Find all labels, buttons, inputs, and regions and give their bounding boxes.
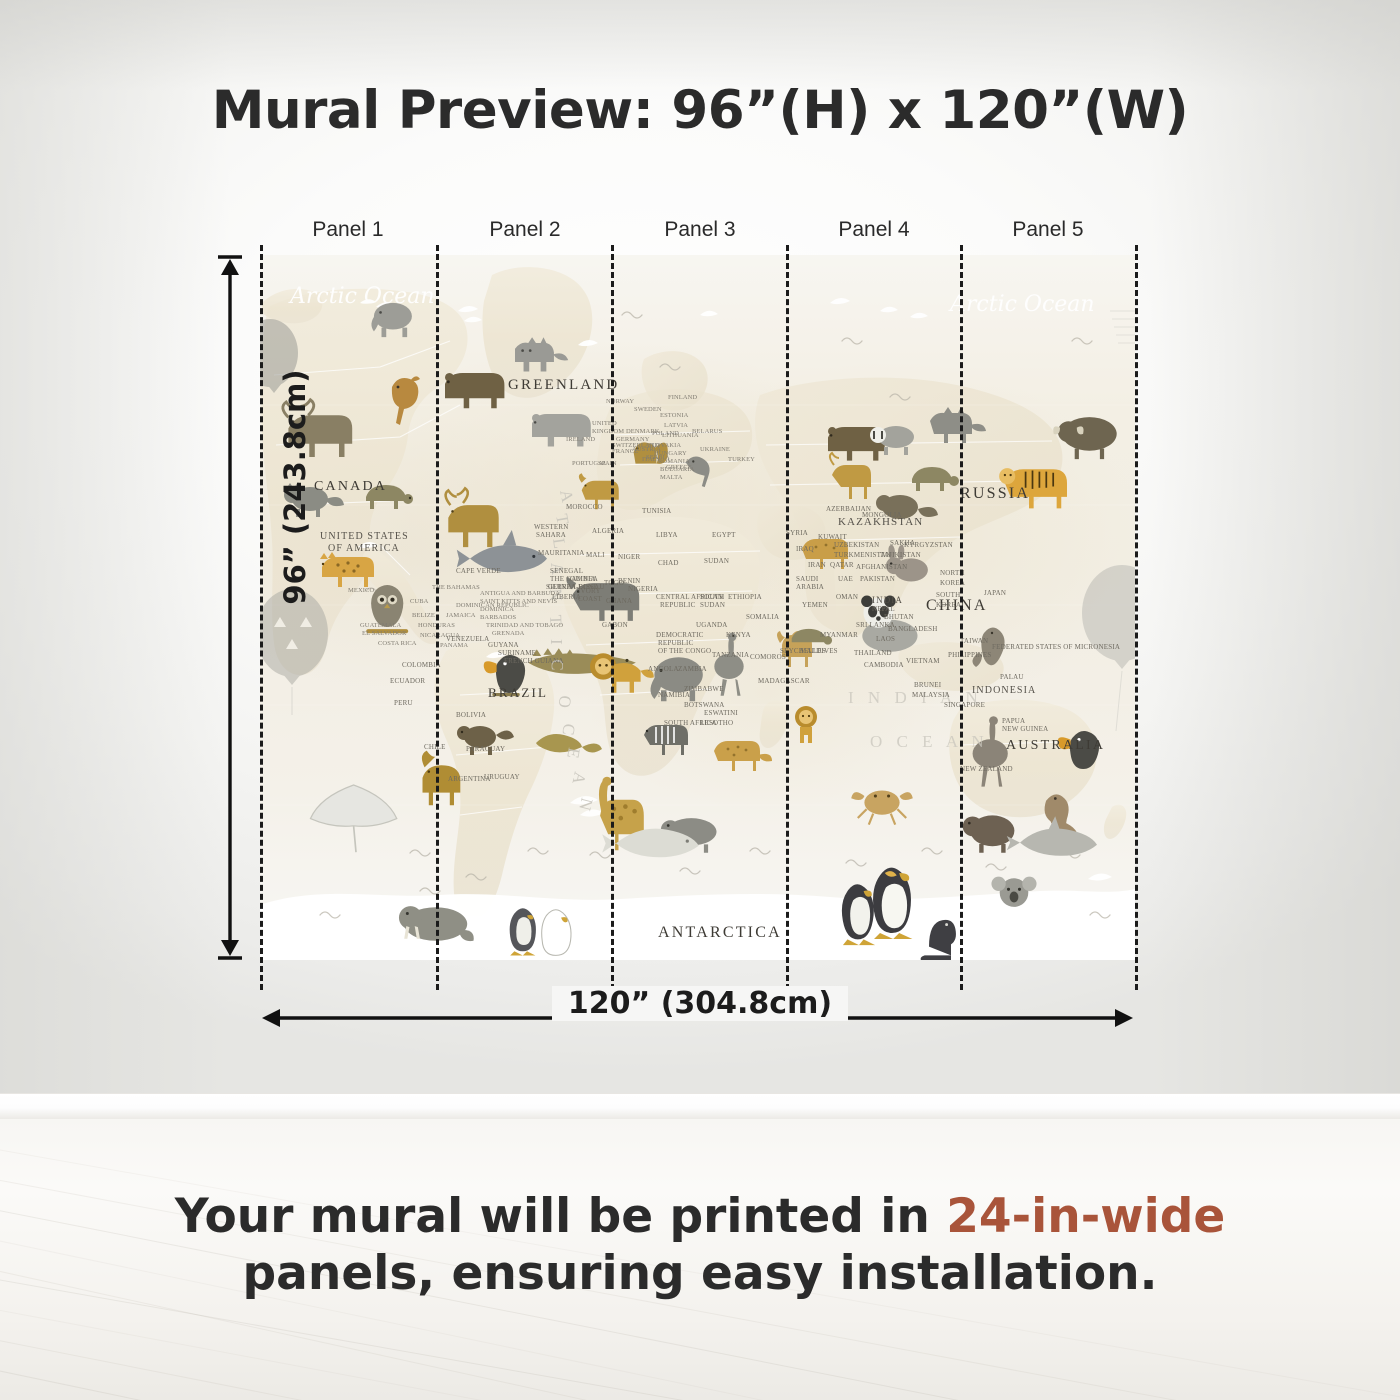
svg-text:BARBADOS: BARBADOS [480,614,516,621]
svg-text:E: E [562,746,583,764]
svg-text:EL SALVADOR: EL SALVADOR [362,630,407,637]
svg-text:WESTERN: WESTERN [534,523,568,531]
svg-text:GRENADA: GRENADA [492,630,525,637]
svg-text:MONGOLIA: MONGOLIA [862,511,902,519]
svg-text:CANADA: CANADA [314,479,387,494]
svg-text:QATAR: QATAR [830,561,854,569]
svg-text:SAKHA: SAKHA [890,539,915,547]
svg-text:SOMALIA: SOMALIA [746,613,779,621]
svg-text:SINGAPORE: SINGAPORE [944,701,985,709]
svg-text:BELIZE: BELIZE [412,612,435,619]
svg-text:BRAZIL: BRAZIL [488,685,548,700]
svg-text:SAHARA: SAHARA [536,531,566,539]
svg-text:LAOS: LAOS [876,635,895,643]
svg-text:C: C [558,722,579,741]
svg-text:SERBIA: SERBIA [646,454,670,461]
svg-text:THAILAND: THAILAND [854,649,892,657]
svg-text:RUSSIA: RUSSIA [960,485,1030,502]
svg-text:UZBEKISTAN: UZBEKISTAN [834,541,879,549]
wall-baseboard [0,1093,1400,1119]
svg-text:BELARUS: BELARUS [692,428,723,435]
svg-text:PERU: PERU [394,699,413,707]
svg-text:REPUBLIC: REPUBLIC [658,639,694,647]
mural-map-preview[interactable]: Arctic Ocean Arctic Ocean A T L A N T I … [260,255,1135,960]
svg-text:TANZANIA: TANZANIA [712,651,749,659]
svg-text:BRUNEI: BRUNEI [914,681,942,689]
svg-text:SRI LANKA: SRI LANKA [856,621,895,629]
svg-text:ALGERIA: ALGERIA [592,527,624,535]
svg-text:ESWATINI: ESWATINI [704,709,738,717]
svg-text:KOREA: KOREA [936,601,961,609]
svg-text:PAPUA: PAPUA [1002,717,1025,725]
width-dimension-label: 120” (304.8cm) [0,986,1400,1021]
svg-text:SURINAME: SURINAME [498,649,536,657]
panel-divider-5 [1135,245,1138,990]
panel-divider-0 [260,245,263,990]
panel-label-5: Panel 5 [960,218,1136,242]
svg-text:TRINIDAD AND TOBAGO: TRINIDAD AND TOBAGO [486,622,563,629]
svg-text:OMAN: OMAN [836,593,858,601]
svg-text:SAUDI: SAUDI [796,575,819,583]
svg-text:OF THE CONGO: OF THE CONGO [658,647,711,655]
svg-text:Arctic Ocean: Arctic Ocean [288,284,435,309]
svg-text:DOMINICA: DOMINICA [480,606,514,613]
panel-label-3: Panel 3 [612,218,788,242]
svg-text:GHANA: GHANA [606,597,632,605]
panel-label-4: Panel 4 [786,218,962,242]
svg-text:MALDIVES: MALDIVES [800,647,838,655]
svg-text:SOUTH: SOUTH [700,593,724,601]
svg-text:NEW ZEALAND: NEW ZEALAND [960,765,1013,773]
svg-text:ANGOLA: ANGOLA [648,665,679,673]
svg-text:MALAYSIA: MALAYSIA [912,691,950,699]
svg-text:BANGLADESH: BANGLADESH [888,625,937,633]
svg-text:BULGARIA: BULGARIA [660,466,695,473]
svg-text:INDONESIA: INDONESIA [972,685,1036,696]
svg-text:DEMOCRATIC: DEMOCRATIC [656,631,704,639]
caption-line2: panels, ensuring easy installation. [243,1246,1158,1301]
svg-text:LESOTHO: LESOTHO [700,719,733,727]
svg-text:PHILIPPINES: PHILIPPINES [948,651,991,659]
svg-text:MAURITANIA: MAURITANIA [538,549,585,557]
svg-text:CAPE VERDE: CAPE VERDE [456,567,501,575]
svg-text:JAMAICA: JAMAICA [446,612,476,619]
svg-text:TAIWAN: TAIWAN [960,637,988,645]
svg-text:KINGDOM: KINGDOM [592,428,624,435]
height-dimension-arrow [210,255,250,960]
map-text-labels: Arctic Ocean Arctic Ocean A T L A N T I … [260,255,1135,960]
floor-plank [0,1287,1400,1400]
svg-text:LIBERIA: LIBERIA [552,593,581,601]
svg-text:IRAN: IRAN [808,561,826,569]
svg-text:NEW GUINEA: NEW GUINEA [1002,725,1048,733]
caption-line1-prefix: Your mural will be printed in [175,1189,946,1244]
panel-divider-2 [611,245,614,990]
wall-shadow-left [0,0,230,1100]
svg-text:GUATEMALA: GUATEMALA [360,622,402,629]
panel-divider-3 [786,245,789,990]
svg-text:SUDAN: SUDAN [704,557,729,565]
svg-text:GABON: GABON [602,621,628,629]
svg-text:INDIA: INDIA [872,595,903,605]
svg-text:KUWAIT: KUWAIT [818,533,847,541]
svg-text:OF AMERICA: OF AMERICA [328,543,400,554]
svg-text:NAMIBIA: NAMIBIA [658,691,690,699]
svg-text:SWEDEN: SWEDEN [634,406,662,413]
svg-text:LATVIA: LATVIA [664,422,688,429]
panel-label-2: Panel 2 [437,218,613,242]
svg-text:UAE: UAE [838,575,853,583]
wall-shadow-right [1150,0,1400,1100]
svg-text:AFGHANISTAN: AFGHANISTAN [856,563,907,571]
svg-text:N: N [574,796,597,817]
svg-text:COAST: COAST [578,595,602,603]
svg-text:O C E A N: O C E A N [870,732,989,751]
svg-text:SWITZERLAND: SWITZERLAND [612,442,660,449]
svg-text:THE GAMBIA: THE GAMBIA [550,575,596,583]
svg-text:CHILE: CHILE [424,743,446,751]
svg-text:UKRAINE: UKRAINE [700,446,730,453]
panel-divider-4 [960,245,963,990]
svg-text:IRELAND: IRELAND [566,436,595,443]
svg-text:ZAMBIA: ZAMBIA [678,665,707,673]
svg-text:UGANDA: UGANDA [696,621,728,629]
svg-text:O: O [554,695,575,714]
svg-text:SOUTH: SOUTH [936,591,960,599]
print-info-caption: Your mural will be printed in 24-in-wide… [80,1188,1320,1303]
svg-text:BOTSWANA: BOTSWANA [684,701,725,709]
svg-text:EGYPT: EGYPT [712,531,736,539]
svg-text:I: I [547,639,566,650]
svg-text:LIBYA: LIBYA [656,531,678,539]
svg-text:GUINEA-BISSAU: GUINEA-BISSAU [548,583,605,591]
svg-text:ANTARCTICA: ANTARCTICA [658,924,782,941]
wall-shadow-top [0,0,1400,90]
width-dimension-label-text: 120” (304.8cm) [552,986,848,1021]
svg-text:MALTA: MALTA [660,474,683,481]
svg-text:BOLIVIA: BOLIVIA [456,711,486,719]
svg-text:SPAIN: SPAIN [598,460,617,467]
svg-text:ECUADOR: ECUADOR [390,677,425,685]
svg-text:GUYANA: GUYANA [488,641,519,649]
svg-text:SENEGAL: SENEGAL [550,567,583,575]
svg-text:FINLAND: FINLAND [668,394,697,401]
svg-text:MYANMAR: MYANMAR [820,631,858,639]
svg-text:SUDAN: SUDAN [700,601,725,609]
svg-text:PARAGUAY: PARAGUAY [466,745,505,753]
svg-text:NEPAL: NEPAL [872,605,895,613]
svg-text:ANTIGUA AND BARBUDA: ANTIGUA AND BARBUDA [480,590,560,597]
svg-text:UNITED STATES: UNITED STATES [320,531,409,542]
svg-text:PALAU: PALAU [1000,673,1024,681]
svg-text:TURKEY: TURKEY [728,456,755,463]
svg-text:ARABIA: ARABIA [796,583,824,591]
svg-text:ESTONIA: ESTONIA [660,412,689,419]
height-dimension-label: 96” (243.8cm) [278,342,312,632]
svg-text:ETHIOPIA: ETHIOPIA [728,593,762,601]
svg-text:MEXICO: MEXICO [348,587,374,594]
svg-text:KENYA: KENYA [726,631,751,639]
svg-text:TAJIKISTAN: TAJIKISTAN [880,551,921,559]
svg-text:IRAQ: IRAQ [796,545,814,553]
svg-text:ARGENTINA: ARGENTINA [448,775,491,783]
svg-text:AUSTRALIA: AUSTRALIA [1006,738,1105,753]
svg-text:TUNISIA: TUNISIA [642,507,671,515]
svg-text:PAKISTAN: PAKISTAN [860,575,895,583]
panel-label-1: Panel 1 [260,218,436,242]
svg-text:SYRIA: SYRIA [786,529,808,537]
svg-text:VENEZUELA: VENEZUELA [446,635,489,643]
caption-accent-text: 24-in-wide [946,1189,1225,1244]
svg-text:THE BAHAMAS: THE BAHAMAS [432,584,480,591]
page-title: Mural Preview: 96”(H) x 120”(W) [0,80,1400,141]
svg-text:JAPAN: JAPAN [984,589,1006,597]
panel-divider-1 [436,245,439,990]
svg-text:NIGER: NIGER [618,553,641,561]
svg-text:CAMBODIA: CAMBODIA [864,661,904,669]
svg-text:DENMARK: DENMARK [626,428,660,435]
svg-text:CUBA: CUBA [410,598,429,605]
svg-text:A: A [567,770,589,791]
svg-text:CHAD: CHAD [658,559,679,567]
svg-text:VIETNAM: VIETNAM [906,657,940,665]
svg-text:YEMEN: YEMEN [802,601,828,609]
svg-text:REPUBLIC: REPUBLIC [660,601,696,609]
svg-text:MOROCCO: MOROCCO [566,503,603,511]
svg-text:NIGERIA: NIGERIA [628,585,658,593]
svg-text:BHUTAN: BHUTAN [884,613,914,621]
svg-text:FRENCH GUIANA: FRENCH GUIANA [504,657,564,665]
svg-text:Arctic Ocean: Arctic Ocean [948,292,1095,317]
svg-text:FEDERATED STATES OF MICRONESIA: FEDERATED STATES OF MICRONESIA [992,643,1120,651]
floor-plank [0,1391,1400,1400]
svg-text:BENIN: BENIN [618,577,640,585]
svg-text:GREENLAND: GREENLAND [508,377,619,393]
svg-text:SAINT KITTS AND NEVIS: SAINT KITTS AND NEVIS [480,598,558,605]
svg-text:MADAGASCAR: MADAGASCAR [758,677,810,685]
svg-text:COSTA RICA: COSTA RICA [378,640,417,647]
svg-text:PANAMA: PANAMA [440,642,468,649]
svg-text:MALI: MALI [586,551,605,559]
